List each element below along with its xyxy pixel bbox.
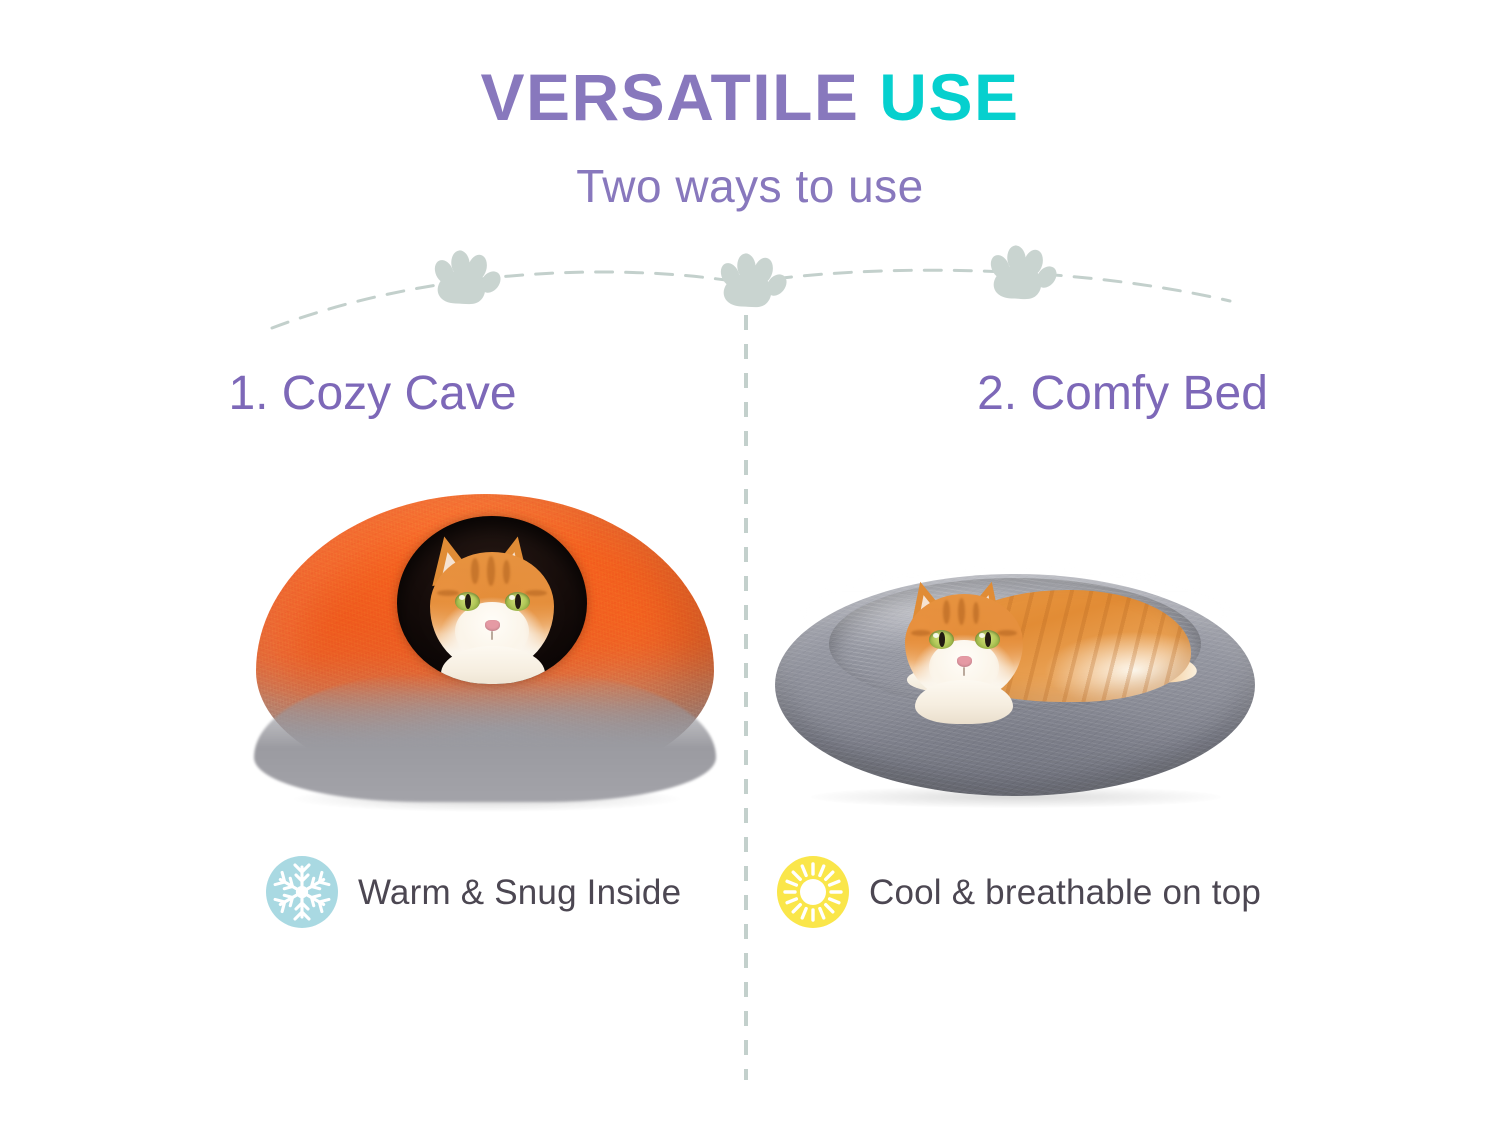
sun-icon [777, 856, 849, 928]
cat-mouth-line [963, 667, 965, 676]
cat-nose [485, 620, 500, 631]
cat-cheek-stripe [997, 630, 1017, 636]
column-heading-cozy-cave: 1. Cozy Cave [0, 370, 745, 418]
cat-eye-left [929, 630, 954, 649]
product-image-comfy-bed [775, 560, 1255, 810]
cat-eye-right [975, 630, 1000, 649]
dashed-arc [272, 270, 1230, 328]
paw-print-icon [431, 250, 504, 305]
cat-eye-right [505, 592, 530, 611]
paw-print-icon [717, 253, 790, 308]
cat-in-bed [775, 560, 1255, 782]
cat-in-cave [397, 516, 587, 684]
feature-label-cool-breathable: Cool & breathable on top [869, 875, 1261, 910]
cat-forehead-stripe [973, 602, 979, 624]
column-heading-comfy-bed: 2. Comfy Bed [745, 370, 1500, 418]
cat-cheek-stripe [437, 590, 459, 596]
cat-forehead-stripe [471, 558, 479, 584]
infographic-canvas: VERSATILE USE Two ways to use 1. Cozy Ca… [0, 0, 1500, 1125]
page-subtitle: Two ways to use [0, 160, 1500, 213]
page-title: VERSATILE USE [0, 64, 1500, 130]
page-title-word-1: VERSATILE [480, 60, 859, 134]
feature-cool-breathable: Cool & breathable on top [777, 856, 1261, 928]
cat-nose [957, 656, 972, 667]
feature-warm-snug: Warm & Snug Inside [266, 856, 681, 928]
cat-forehead-stripe [487, 556, 495, 586]
cat-eye-left [455, 592, 480, 611]
feature-label-warm-snug: Warm & Snug Inside [358, 875, 681, 910]
paw-print-icon [987, 245, 1060, 300]
cave-opening [397, 516, 587, 684]
page-title-word-2: USE [879, 60, 1019, 134]
cat-chest [915, 680, 1013, 724]
snowflake-icon [266, 856, 338, 928]
product-image-cozy-cave [250, 480, 720, 800]
cat-forehead-stripe [958, 598, 965, 625]
cat-forehead-stripe [503, 560, 510, 584]
cat-mouth-line [491, 631, 493, 640]
cat-forehead-stripe [943, 600, 950, 624]
cat-cheek-stripe [911, 630, 931, 636]
cat-cheek-stripe [525, 590, 547, 596]
cave-gray-base [254, 674, 716, 802]
